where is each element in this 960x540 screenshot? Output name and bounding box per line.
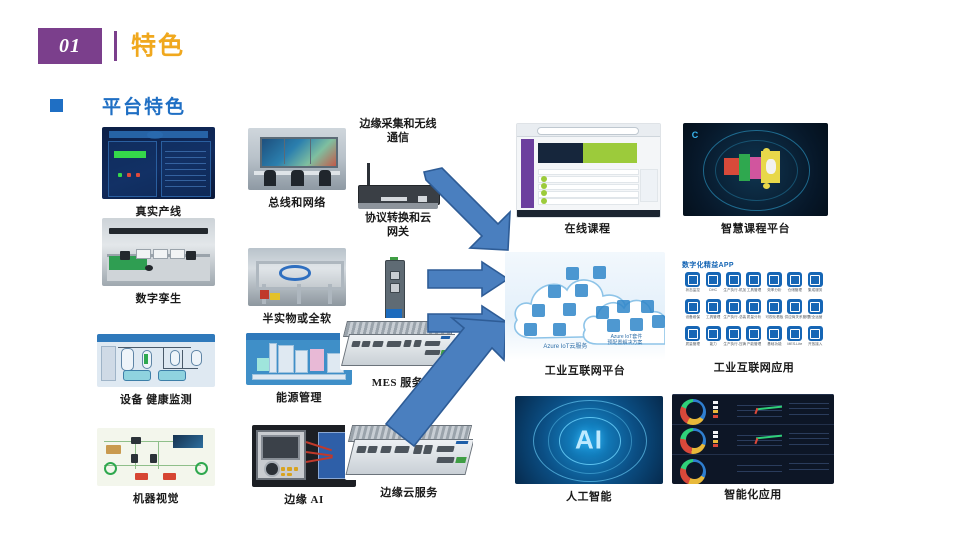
app-icon-cell[interactable]: 仓储管理 bbox=[785, 272, 805, 293]
app-icon-cell[interactable]: 开放接入 bbox=[805, 326, 825, 347]
tile-intelligent-applications[interactable]: 智能化应用 bbox=[672, 394, 834, 484]
caption-intelligent-applications: 智能化应用 bbox=[724, 486, 782, 502]
app-icon-cell[interactable]: 能力 bbox=[703, 326, 723, 347]
tile-energy-management[interactable]: 能源管理 bbox=[246, 333, 352, 385]
app-tile-icon bbox=[685, 272, 700, 287]
app-icon-label: DHC bbox=[703, 288, 723, 292]
thumb-semi-physical bbox=[248, 248, 346, 306]
thumb-din-rail bbox=[373, 256, 415, 324]
thumb-dashboard bbox=[102, 127, 215, 199]
app-icon-cell[interactable]: 设备维保 bbox=[683, 299, 703, 320]
app-icon-label: 质量分析 bbox=[744, 315, 764, 320]
thumb-energy bbox=[246, 333, 352, 385]
cloud-big-label: Azure IoT云服务 bbox=[543, 341, 587, 350]
caption-artificial-intelligence: 人工智能 bbox=[566, 488, 612, 504]
tile-real-production-line[interactable]: 真实产线 bbox=[102, 127, 215, 199]
app-tile-icon bbox=[726, 326, 741, 341]
app-icon-label: 生产执行-压铸 bbox=[723, 342, 743, 347]
caption-industrial-internet-platform: 工业互联网平台 bbox=[545, 362, 626, 378]
app-icon-cell[interactable]: 效率分析 bbox=[764, 272, 784, 293]
app-tile-icon bbox=[706, 299, 721, 314]
thumb-noc bbox=[248, 128, 346, 190]
thumb-smart-course: C bbox=[683, 123, 828, 216]
app-tile-icon bbox=[808, 272, 823, 287]
app-icon-cell[interactable]: 安全运营 bbox=[805, 299, 825, 320]
thumb-apps-grid: 数字化精益APP 状态监控DHC生产执行-机加工具管理效率分析仓储管理集成服务设… bbox=[678, 257, 830, 357]
label-edge-acquisition-wireless: 边缘采集和无线 通信 bbox=[340, 118, 456, 146]
app-tile-icon bbox=[767, 326, 782, 341]
thumb-bi-dashboard bbox=[672, 394, 834, 484]
app-icon-cell[interactable]: 生产执行-总装 bbox=[723, 299, 743, 320]
app-icon-cell[interactable]: 质量分析 bbox=[744, 299, 764, 320]
app-icon-cell[interactable]: 生产执行-压铸 bbox=[723, 326, 743, 347]
app-icon-cell[interactable]: 工具管理 bbox=[703, 299, 723, 320]
app-tile-icon bbox=[808, 326, 823, 341]
caption-equipment-health: 设备 健康监测 bbox=[120, 391, 192, 407]
app-icon-label: 质量管理 bbox=[683, 342, 703, 347]
tile-edge-ai[interactable]: 边缘 AI bbox=[252, 425, 356, 487]
app-icon-label: 生产执行-总装 bbox=[723, 315, 743, 320]
app-icon-cell[interactable]: 生产执行-机加 bbox=[723, 272, 743, 293]
tile-artificial-intelligence[interactable]: AI 人工智能 bbox=[515, 396, 663, 484]
tile-online-course[interactable]: 在线课程 bbox=[516, 123, 659, 216]
thumb-machine-vision bbox=[97, 428, 215, 486]
thumb-digital-twin bbox=[102, 218, 215, 286]
app-icon-label: 开放接入 bbox=[805, 342, 825, 347]
arrow-to-cloud-upper bbox=[428, 262, 510, 298]
app-tile-icon bbox=[746, 326, 761, 341]
app-icon-label: 设备维保 bbox=[683, 315, 703, 320]
app-icon-cell[interactable]: MES-Lite bbox=[785, 326, 805, 346]
section-number-badge: 01 bbox=[38, 28, 102, 64]
caption-online-course: 在线课程 bbox=[565, 220, 611, 236]
app-icon-label: 工具管理 bbox=[744, 288, 764, 293]
slide-header: 01 特色 bbox=[38, 28, 185, 64]
app-icon-label: 工具管理 bbox=[703, 315, 723, 320]
tile-semi-physical[interactable]: 半实物或全软 bbox=[248, 248, 346, 306]
caption-machine-vision: 机器视觉 bbox=[133, 490, 179, 506]
thumb-edge-ai bbox=[252, 425, 356, 487]
app-icon-cell[interactable]: 集成服务 bbox=[805, 272, 825, 293]
app-tile-icon bbox=[787, 326, 802, 341]
cloud-small-sublabel: 预配置解决方案 bbox=[607, 339, 642, 346]
app-icon-cell[interactable]: DHC bbox=[703, 272, 723, 292]
app-icon-label: 产能管理 bbox=[744, 342, 764, 347]
app-icon-cell[interactable]: 供应商关系管理 bbox=[785, 299, 805, 320]
header-separator bbox=[114, 31, 117, 61]
app-tile-icon bbox=[787, 272, 802, 287]
tile-industrial-internet-apps[interactable]: 数字化精益APP 状态监控DHC生产执行-机加工具管理效率分析仓储管理集成服务设… bbox=[678, 257, 830, 357]
app-tile-icon bbox=[726, 299, 741, 314]
page-title: 特色 bbox=[131, 34, 185, 59]
app-icon-label: 供应商关系管理 bbox=[785, 315, 805, 320]
app-icon-cell[interactable]: 工具管理 bbox=[744, 272, 764, 293]
apps-panel-title: 数字化精益APP bbox=[682, 260, 734, 270]
caption-digital-twin: 数字孪生 bbox=[136, 290, 182, 306]
app-icon-cell[interactable]: 可视化看板 bbox=[764, 299, 784, 320]
app-icon-label: 可视化看板 bbox=[764, 315, 784, 320]
app-icon-cell[interactable]: 基础功能 bbox=[764, 326, 784, 347]
caption-semi-physical: 半实物或全软 bbox=[263, 310, 332, 326]
tile-bus-and-network[interactable]: 总线和网络 bbox=[248, 128, 346, 190]
tile-din-rail-device[interactable] bbox=[373, 256, 415, 324]
app-icon-label: 效率分析 bbox=[764, 288, 784, 293]
thumb-online-course bbox=[516, 123, 661, 218]
tile-smart-course-platform[interactable]: C 智慧课程平台 bbox=[683, 123, 828, 216]
caption-edge-cloud-server: 边缘云服务 bbox=[380, 484, 438, 500]
caption-energy-management: 能源管理 bbox=[276, 389, 322, 405]
app-icon-label: 能力 bbox=[703, 342, 723, 347]
subsection-label: 平台特色 bbox=[102, 92, 186, 119]
app-icon-label: 集成服务 bbox=[805, 288, 825, 293]
app-tile-icon bbox=[808, 299, 823, 314]
app-icon-label: 状态监控 bbox=[683, 288, 703, 293]
caption-edge-ai: 边缘 AI bbox=[284, 491, 323, 507]
app-tile-icon bbox=[787, 299, 802, 314]
app-icon-cell[interactable]: 质量管理 bbox=[683, 326, 703, 347]
ai-text: AI bbox=[575, 425, 603, 456]
thumb-ai: AI bbox=[515, 396, 663, 484]
app-tile-icon bbox=[706, 272, 721, 287]
thumb-scada bbox=[97, 334, 215, 387]
app-tile-icon bbox=[746, 299, 761, 314]
app-tile-icon bbox=[726, 272, 741, 287]
app-icon-label: 生产执行-机加 bbox=[723, 288, 743, 293]
app-icon-cell[interactable]: 状态监控 bbox=[683, 272, 703, 293]
app-icon-label: 安全运营 bbox=[805, 315, 825, 320]
app-icon-label: 仓储管理 bbox=[785, 288, 805, 293]
caption-real-production-line: 真实产线 bbox=[136, 203, 182, 219]
subsection-heading: 平台特色 bbox=[50, 92, 186, 119]
app-icon-label: 基础功能 bbox=[764, 342, 784, 347]
tile-equipment-health[interactable]: 设备 健康监测 bbox=[97, 334, 215, 387]
tile-industrial-internet-platform[interactable]: Azure IoT云服务 Azure IoT套件 预配置解决方案 工业互联网平台 bbox=[505, 252, 665, 360]
thumb-azure-cloud: Azure IoT云服务 Azure IoT套件 预配置解决方案 bbox=[505, 252, 665, 360]
app-tile-icon bbox=[706, 326, 721, 341]
slide-root: 01 特色 平台特色 真实产线 bbox=[0, 0, 960, 540]
app-tile-icon bbox=[767, 299, 782, 314]
caption-smart-course-platform: 智慧课程平台 bbox=[721, 220, 790, 236]
app-tile-icon bbox=[746, 272, 761, 287]
app-icon-cell[interactable]: 产能管理 bbox=[744, 326, 764, 347]
app-tile-icon bbox=[685, 299, 700, 314]
caption-bus-and-network: 总线和网络 bbox=[268, 194, 326, 210]
app-icon-label: MES-Lite bbox=[785, 342, 805, 346]
arrow-edge-cloud-to-platform bbox=[370, 318, 510, 450]
tile-digital-twin[interactable]: 数字孪生 bbox=[102, 218, 215, 286]
app-tile-icon bbox=[685, 326, 700, 341]
tile-machine-vision[interactable]: 机器视觉 bbox=[97, 428, 215, 486]
arrow-gateway-to-course bbox=[420, 168, 512, 252]
square-bullet-icon bbox=[50, 99, 63, 112]
app-tile-icon bbox=[767, 272, 782, 287]
caption-industrial-internet-apps: 工业互联网应用 bbox=[714, 359, 795, 375]
